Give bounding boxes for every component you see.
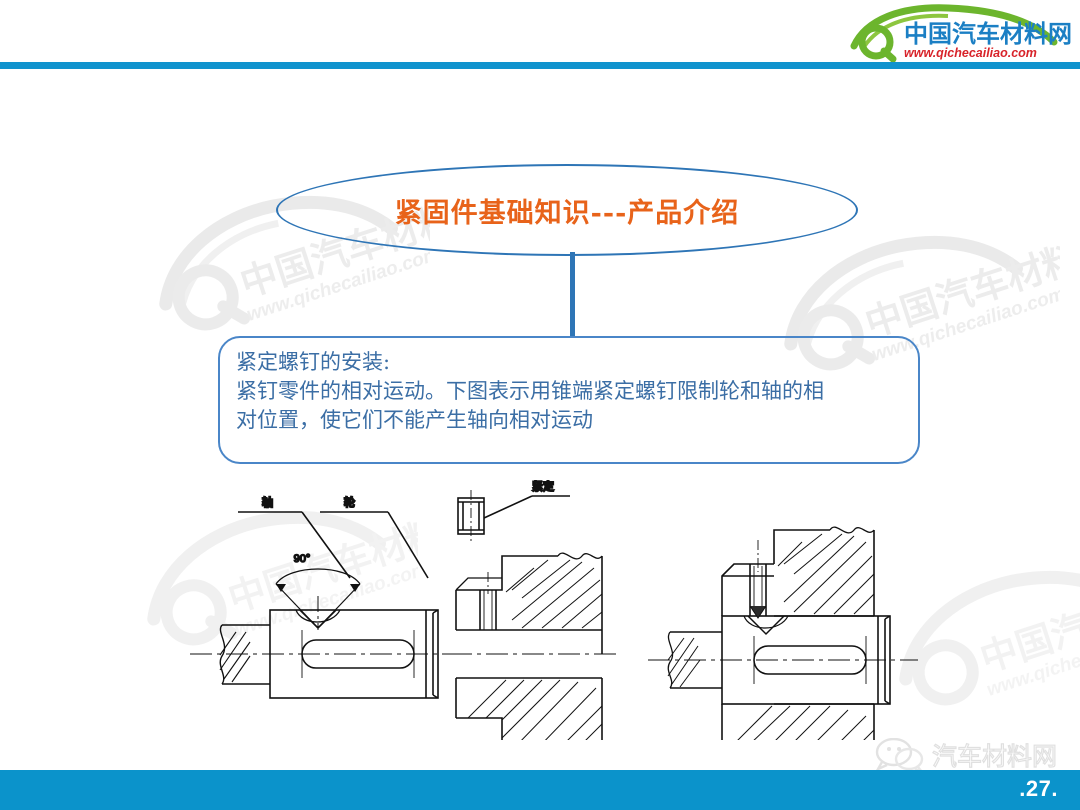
label-wheel: 轮 [344,495,355,509]
brand-name-cn: 中国汽车材料网 [904,20,1072,48]
label-setscrew: 紧定 [532,480,554,493]
brand-logo: 中国汽车材料网 www.qichecailiao.com [848,2,1072,62]
wechat-icon [877,739,922,772]
svg-text:www.qichecailiao.com: www.qichecailiao.com [984,618,1080,700]
leader-wheel [320,512,428,578]
leader-setscrew [484,496,570,518]
hub-section-middle [450,553,620,740]
slide-canvas: 中国汽车材料网 www.qichecailiao.com 中国汽车材料网 www… [0,0,1080,810]
title-connector-line [570,252,575,338]
footer-bar [0,770,1080,810]
svg-text:中国汽车材料网: 中国汽车材料网 [975,560,1080,681]
body-text: 紧定螺钉的安装: 紧钉零件的相对运动。下图表示用锥端紧定螺钉限制轮和轴的相 对位… [236,348,912,435]
wechat-watermark: 汽车材料网 [872,738,1062,772]
svg-text:中国汽车材料网: 中国汽车材料网 [860,225,1060,346]
label-shaft: 轴 [262,495,273,509]
page-number: .27. [1019,776,1058,802]
page-title: 紧固件基础知识---产品介绍 [276,164,858,256]
slide-title-ellipse: 紧固件基础知识---产品介绍 [276,164,858,256]
technical-drawing-figure: 轴 轮 [150,480,950,740]
wechat-name: 汽车材料网 [932,742,1057,771]
leader-shaft [238,512,350,578]
brand-url: www.qichecailiao.com [904,46,1037,60]
angle-label: 90° [294,553,311,565]
setscrew-end-view [458,490,484,542]
header-accent-rule [0,62,1080,69]
assembly-right [648,527,918,740]
